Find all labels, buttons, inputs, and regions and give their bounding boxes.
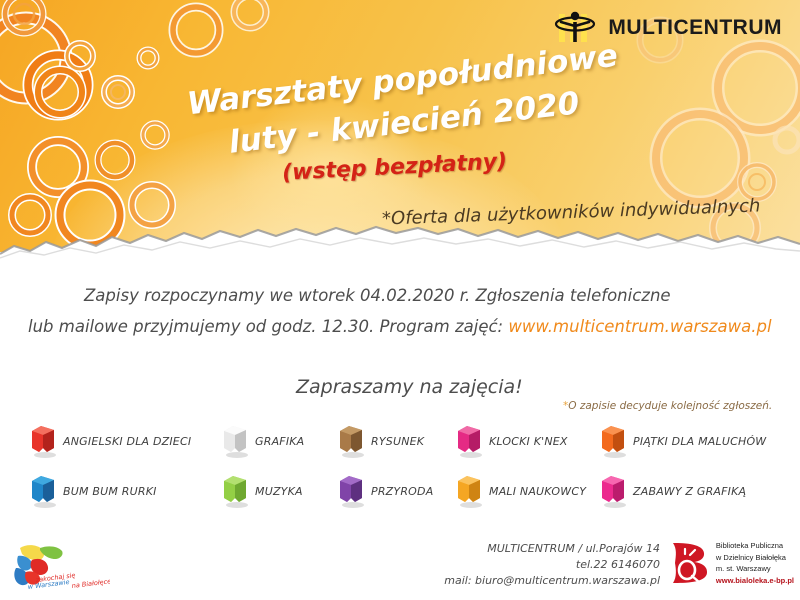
cube-icon — [222, 474, 248, 508]
info-line-2: lub mailowe przyjmujemy od godz. 12.30. … — [28, 317, 772, 336]
course-row-2: BUM BUM RURKIMUZYKAPRZYRODAMALI NAUKOWCY… — [0, 474, 800, 524]
library-b-logo-icon — [670, 541, 710, 585]
course-item[interactable]: KLOCKI K'NEX — [456, 424, 568, 458]
course-item[interactable]: BUM BUM RURKI — [30, 474, 157, 508]
poster: MULTICENTRUM Warsztaty popołudniowe luty… — [0, 0, 800, 600]
info-line-2-text: lub mailowe przyjmujemy od godz. 12.30. … — [28, 317, 508, 336]
zakochaj-sie-w-warszawie-logo-icon: zakochaj się w Warszawie na Białołęce — [6, 542, 110, 594]
library-line-3: m. st. Warszawy — [716, 563, 794, 575]
cube-icon — [30, 474, 56, 508]
course-list: ANGIELSKI DLA DZIECIGRAFIKARYSUNEKKLOCKI… — [0, 424, 800, 524]
course-item[interactable]: ANGIELSKI DLA DZIECI — [30, 424, 191, 458]
cube-icon — [338, 424, 364, 458]
course-item[interactable]: MALI NAUKOWCY — [456, 474, 586, 508]
course-label: PRZYRODA — [371, 485, 433, 498]
contact-address: MULTICENTRUM / ul.Porajów 14 — [444, 541, 660, 557]
course-item[interactable]: ZABAWY Z GRAFIKĄ — [600, 474, 746, 508]
registration-footnote: *O zapisie decyduje kolejność zgłoszeń. — [563, 400, 772, 412]
course-label: RYSUNEK — [371, 435, 424, 448]
hero-free-entry: (wstęp bezpłatny) — [282, 149, 508, 186]
course-label: KLOCKI K'NEX — [489, 435, 568, 448]
library-line-2: w Dzielnicy Białołęka — [716, 552, 794, 564]
svg-text:na Białołęce: na Białołęce — [71, 577, 110, 590]
torn-paper-edge — [0, 224, 800, 268]
footnote-text: O zapisie decyduje kolejność zgłoszeń. — [568, 400, 772, 412]
course-item[interactable]: PIĄTKI DLA MALUCHÓW — [600, 424, 766, 458]
info-line-1: Zapisy rozpoczynamy we wtorek 04.02.2020… — [84, 286, 671, 305]
course-label: BUM BUM RURKI — [63, 485, 157, 498]
cube-icon — [456, 474, 482, 508]
course-row-1: ANGIELSKI DLA DZIECIGRAFIKARYSUNEKKLOCKI… — [0, 424, 800, 474]
library-line-1: Biblioteka Publiczna — [716, 540, 794, 552]
cube-icon — [600, 474, 626, 508]
cube-icon — [456, 424, 482, 458]
course-label: MALI NAUKOWCY — [489, 485, 586, 498]
cube-icon — [222, 424, 248, 458]
course-item[interactable]: GRAFIKA — [222, 424, 304, 458]
cube-icon — [338, 474, 364, 508]
course-item[interactable]: RYSUNEK — [338, 424, 424, 458]
library-logo: Biblioteka Publiczna w Dzielnicy Białołę… — [670, 540, 794, 587]
library-text: Biblioteka Publiczna w Dzielnicy Białołę… — [716, 540, 794, 587]
footer-contact: MULTICENTRUM / ul.Porajów 14 tel.22 6146… — [444, 541, 660, 589]
course-label: GRAFIKA — [255, 435, 304, 448]
course-item[interactable]: MUZYKA — [222, 474, 303, 508]
course-label: ANGIELSKI DLA DZIECI — [63, 435, 191, 448]
website-link[interactable]: www.multicentrum.warszawa.pl — [508, 317, 771, 336]
library-url[interactable]: www.bialoleka.e-bp.pl — [716, 575, 794, 587]
hero-text-group: Warsztaty popołudniowe luty - kwiecień 2… — [0, 0, 800, 252]
cube-icon — [30, 424, 56, 458]
course-label: ZABAWY Z GRAFIKĄ — [633, 485, 746, 498]
course-item[interactable]: PRZYRODA — [338, 474, 433, 508]
cube-icon — [600, 424, 626, 458]
contact-email: mail: biuro@multicentrum.warszawa.pl — [444, 573, 660, 589]
course-label: PIĄTKI DLA MALUCHÓW — [633, 435, 766, 448]
invite-text: Zapraszamy na zajęcia! — [296, 376, 523, 398]
course-label: MUZYKA — [255, 485, 303, 498]
contact-phone: tel.22 6146070 — [444, 557, 660, 573]
